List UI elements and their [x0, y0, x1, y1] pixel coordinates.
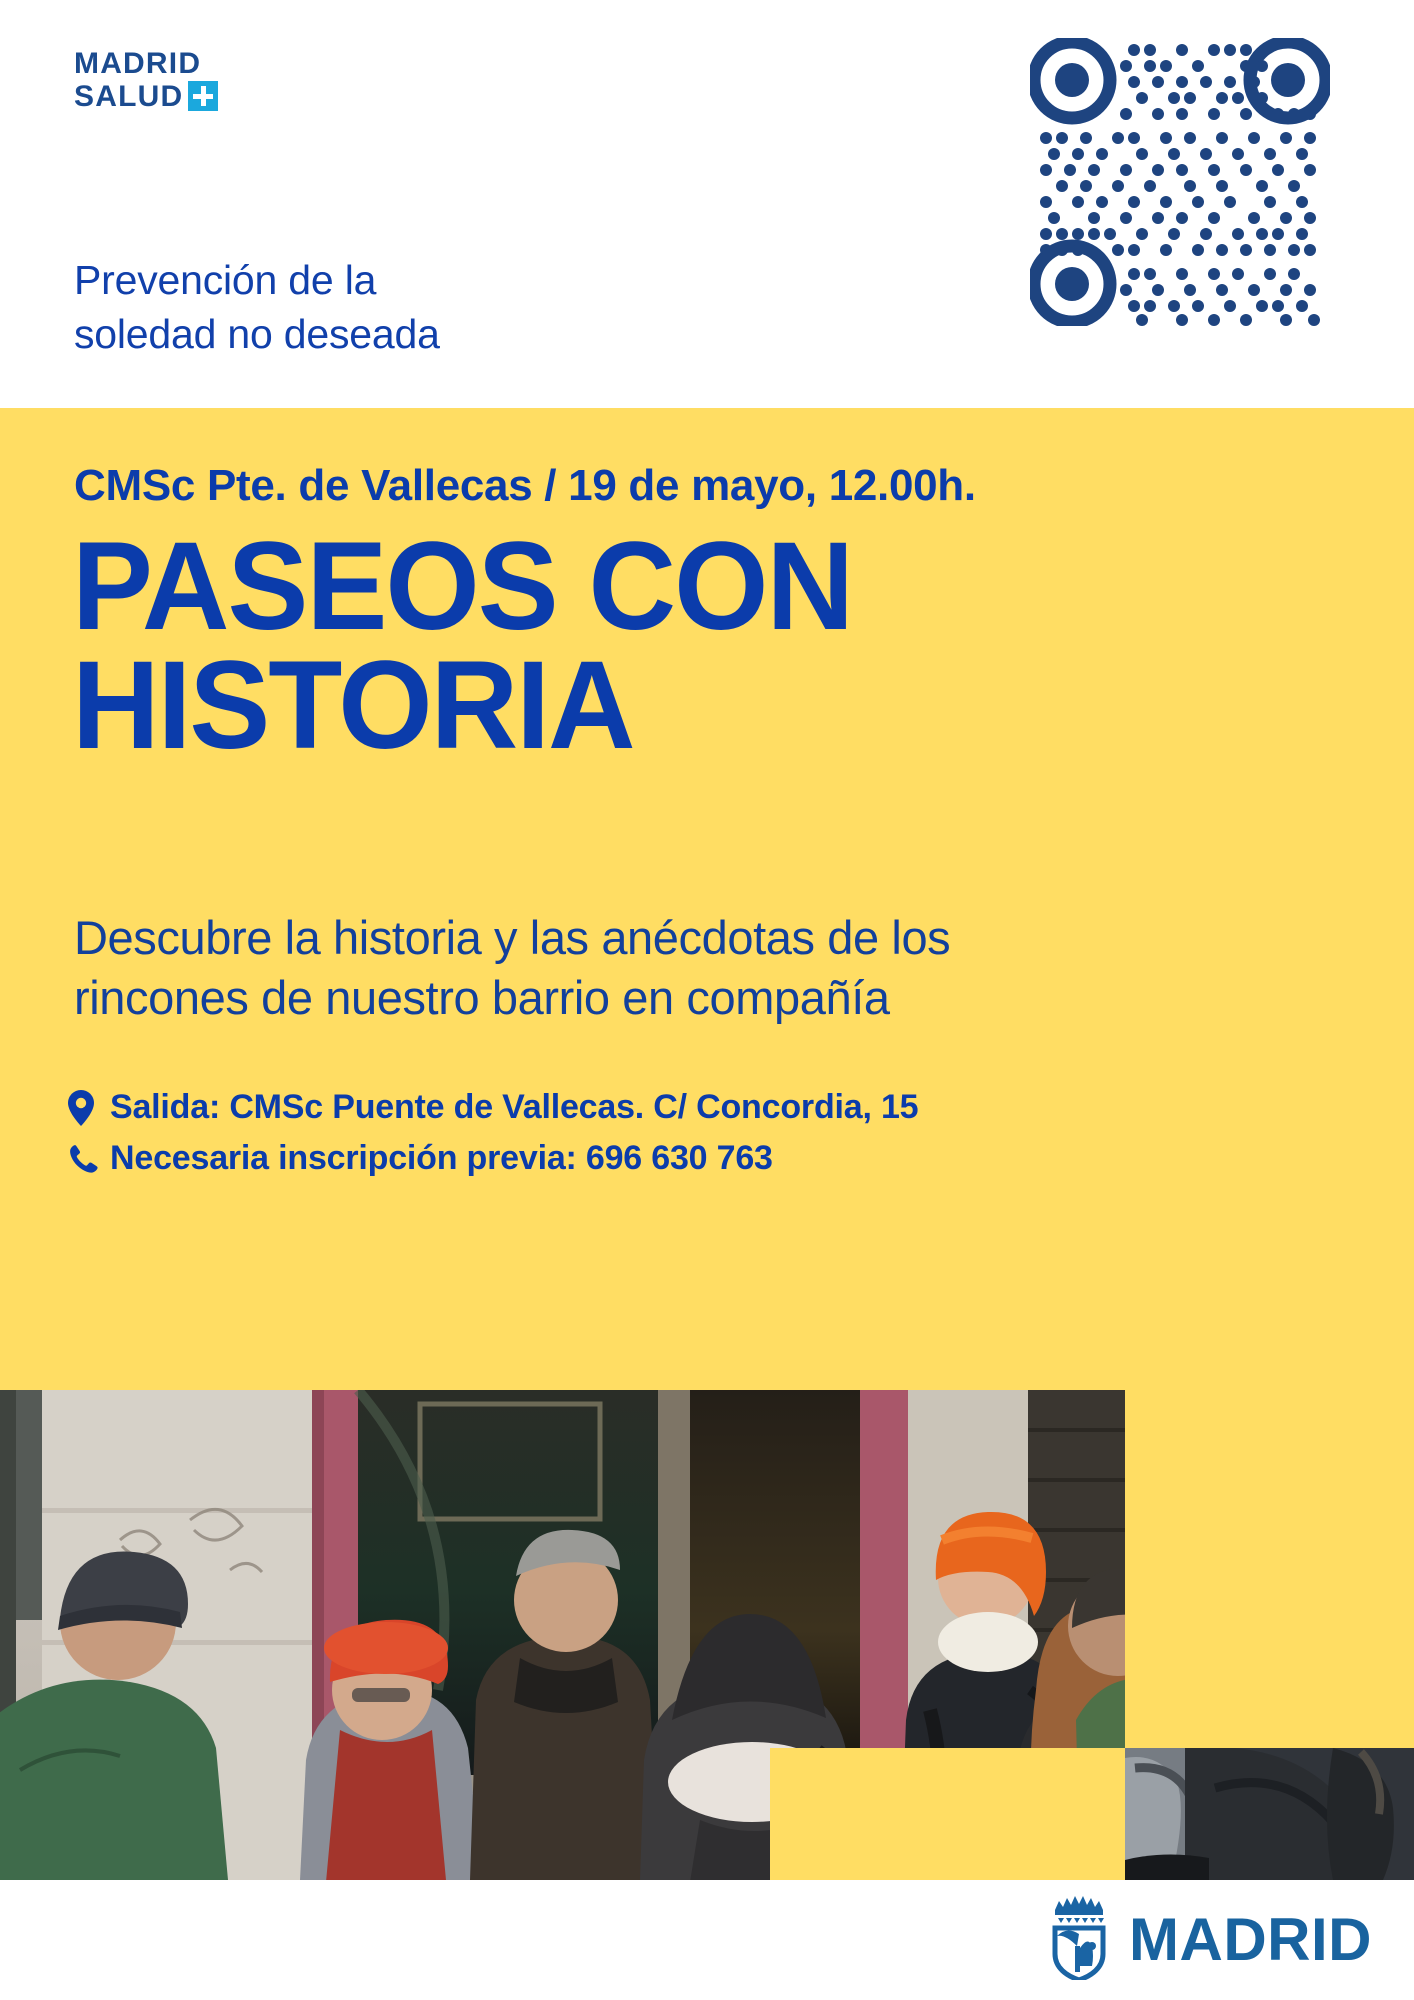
location-pin-icon: [68, 1090, 110, 1126]
madrid-salud-logo: MADRID SALUD: [74, 48, 218, 112]
poster-header: MADRID SALUD Prevención de la soledad no…: [0, 0, 1414, 408]
madrid-salud-line2: SALUD: [74, 81, 183, 113]
event-details-list: Salida: CMSc Puente de Vallecas. C/ Conc…: [68, 1088, 918, 1190]
photo-yellow-overlay: [770, 1748, 1125, 1880]
detail-location-text: Salida: CMSc Puente de Vallecas. C/ Conc…: [110, 1088, 918, 1127]
madrid-coat-of-arms-icon: [1047, 1894, 1111, 1985]
detail-location: Salida: CMSc Puente de Vallecas. C/ Conc…: [68, 1088, 918, 1127]
qr-code-icon[interactable]: [1030, 38, 1330, 326]
photo-yellow-top-right: [1125, 1390, 1414, 1748]
medical-cross-icon: [188, 81, 218, 111]
event-description: Descubre la historia y las anécdotas de …: [74, 908, 950, 1028]
photo-area: [0, 1390, 1414, 1880]
poster-body: CMSc Pte. de Vallecas / 19 de mayo, 12.0…: [0, 408, 1414, 1390]
poster: MADRID SALUD Prevención de la soledad no…: [0, 0, 1414, 2000]
event-photo-secondary: [1125, 1748, 1414, 1880]
madrid-salud-line1: MADRID: [74, 48, 218, 80]
phone-icon: [68, 1143, 110, 1175]
event-place-date: CMSc Pte. de Vallecas / 19 de mayo, 12.0…: [74, 461, 976, 511]
detail-phone-text: Necesaria inscripción previa: 696 630 76…: [110, 1139, 773, 1178]
madrid-logo-text: MADRID: [1129, 1910, 1372, 1970]
poster-footer: MADRID: [0, 1880, 1414, 2000]
detail-phone: Necesaria inscripción previa: 696 630 76…: [68, 1139, 918, 1178]
campaign-title: Prevención de la soledad no deseada: [74, 253, 440, 361]
madrid-city-logo: MADRID: [1047, 1894, 1372, 1985]
page-title: PASEOS CON HISTORIA: [72, 528, 852, 766]
